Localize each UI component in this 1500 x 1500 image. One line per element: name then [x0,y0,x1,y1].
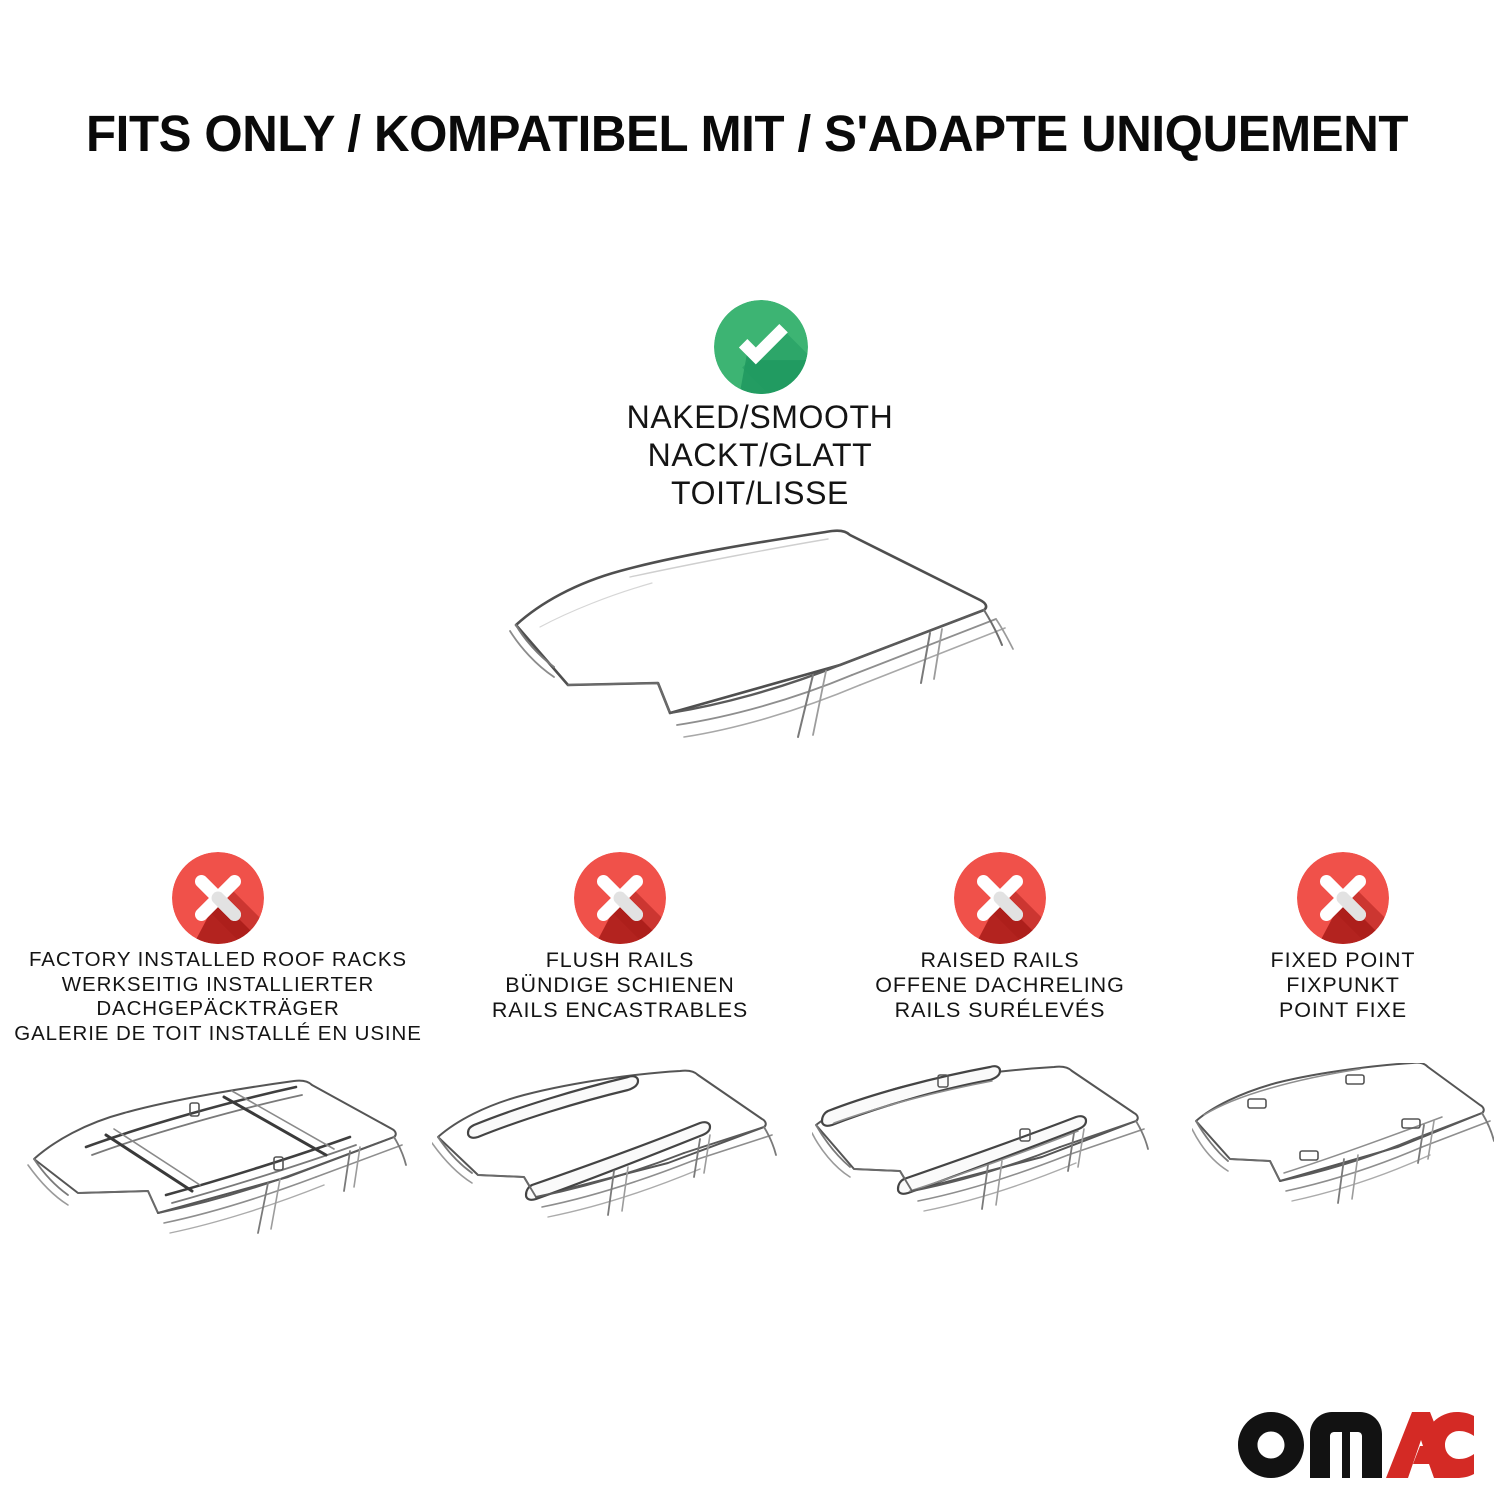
label-line-en: FACTORY INSTALLED ROOF RACKS [6,948,430,973]
label-line-fr: RAILS SURÉLEVÉS [812,998,1188,1023]
roof-type-label: RAISED RAILS OFFENE DACHRELING RAILS SUR… [812,948,1188,1023]
car-roof-flush-rails-illustration [432,1063,808,1293]
incompatible-roof-types-row: FACTORY INSTALLED ROOF RACKS WERKSEITIG … [0,845,1500,1305]
roof-type-card-factory-roof-racks: FACTORY INSTALLED ROOF RACKS WERKSEITIG … [6,845,430,1305]
car-roof-naked-smooth-illustration [480,515,1040,805]
x-circle-icon [172,852,264,944]
label-line-de-1: WERKSEITIG INSTALLIERTER [6,973,430,998]
approved-label-line-de: NACKT/GLATT [520,436,1000,474]
label-line-en: RAISED RAILS [812,948,1188,973]
car-roof-fixed-point-illustration [1192,1063,1494,1293]
label-line-fr: GALERIE DE TOIT INSTALLÉ EN USINE [6,1022,430,1047]
roof-type-card-flush-rails: FLUSH RAILS BÜNDIGE SCHIENEN RAILS ENCAS… [432,845,808,1305]
label-line-de: FIXPUNKT [1192,973,1494,998]
label-line-en: FIXED POINT [1192,948,1494,973]
approved-roof-type-label: NAKED/SMOOTH NACKT/GLATT TOIT/LISSE [520,398,1000,512]
page-title: FITS ONLY / KOMPATIBEL MIT / S'ADAPTE UN… [86,104,1379,164]
approved-label-line-en: NAKED/SMOOTH [520,398,1000,436]
roof-type-label: FIXED POINT FIXPUNKT POINT FIXE [1192,948,1494,1023]
label-line-en: FLUSH RAILS [432,948,808,973]
label-line-de-2: DACHGEPÄCKTRÄGER [6,997,430,1022]
label-line-de: BÜNDIGE SCHIENEN [432,973,808,998]
roof-type-card-raised-rails: RAISED RAILS OFFENE DACHRELING RAILS SUR… [812,845,1188,1305]
omac-logo [1238,1412,1474,1478]
car-roof-factory-rack-illustration [6,1063,430,1293]
label-line-fr: POINT FIXE [1192,998,1494,1023]
roof-type-label: FLUSH RAILS BÜNDIGE SCHIENEN RAILS ENCAS… [432,948,808,1023]
x-circle-icon [954,852,1046,944]
roof-type-label: FACTORY INSTALLED ROOF RACKS WERKSEITIG … [6,948,430,1046]
x-circle-icon [574,852,666,944]
roof-type-card-fixed-point: FIXED POINT FIXPUNKT POINT FIXE [1192,845,1494,1305]
label-line-fr: RAILS ENCASTRABLES [432,998,808,1023]
check-circle-icon [714,300,808,394]
x-circle-icon [1297,852,1389,944]
approved-label-line-fr: TOIT/LISSE [520,474,1000,512]
label-line-de: OFFENE DACHRELING [812,973,1188,998]
car-roof-raised-rails-illustration [812,1063,1188,1293]
